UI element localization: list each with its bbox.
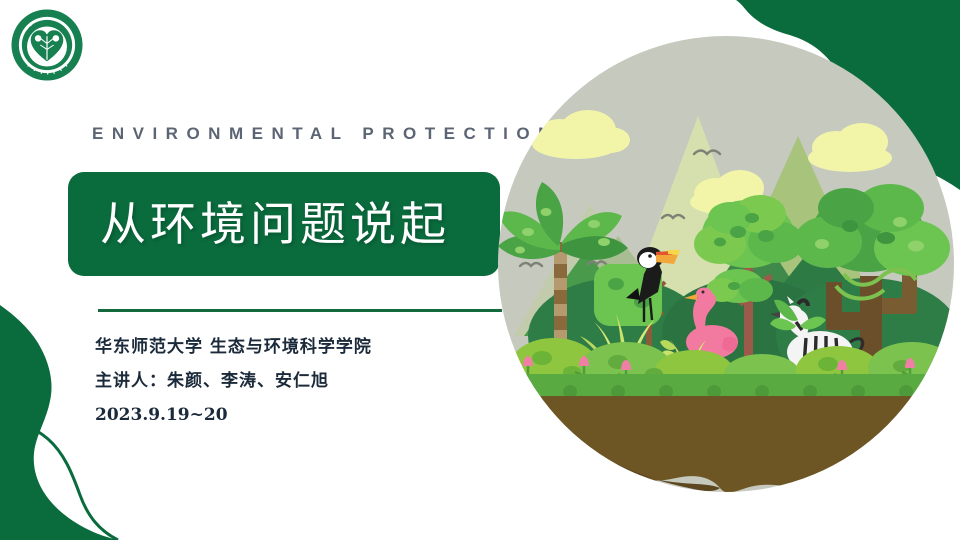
institution-line: 华东师范大学 生态与环境科学学院 bbox=[95, 330, 515, 364]
toucan-eye bbox=[648, 254, 652, 258]
divider-line bbox=[98, 309, 502, 312]
flamingo-head bbox=[696, 288, 712, 301]
page-title: 从环境问题说起 bbox=[100, 186, 500, 262]
eyebrow-text: ENVIRONMENTAL PROTECTION bbox=[92, 124, 559, 144]
island-soil bbox=[498, 396, 954, 492]
island bbox=[498, 374, 954, 492]
university-logo bbox=[10, 8, 84, 82]
presenters-line: 主讲人：朱颜、李涛、安仁旭 bbox=[95, 364, 515, 398]
toucan-face bbox=[639, 252, 657, 268]
floating-jungle-island-illustration bbox=[498, 36, 954, 492]
meta-block: 华东师范大学 生态与环境科学学院 主讲人：朱颜、李涛、安仁旭 2023.9.19… bbox=[95, 330, 515, 432]
logo-leaf-dot-right bbox=[53, 35, 60, 42]
logo-leaf-dot-left bbox=[35, 35, 42, 42]
date-line: 2023.9.19~20 bbox=[95, 398, 515, 432]
presentation-slide: ENVIRONMENTAL PROTECTION 从环境问题说起 华东师范大学 … bbox=[0, 0, 960, 540]
bush-dot-1 bbox=[532, 351, 552, 365]
bush-dot-5 bbox=[818, 357, 838, 371]
corner-accent-line-bl bbox=[0, 421, 118, 540]
square-bush-dot-1 bbox=[608, 278, 624, 290]
flamingo-eye bbox=[702, 291, 705, 294]
